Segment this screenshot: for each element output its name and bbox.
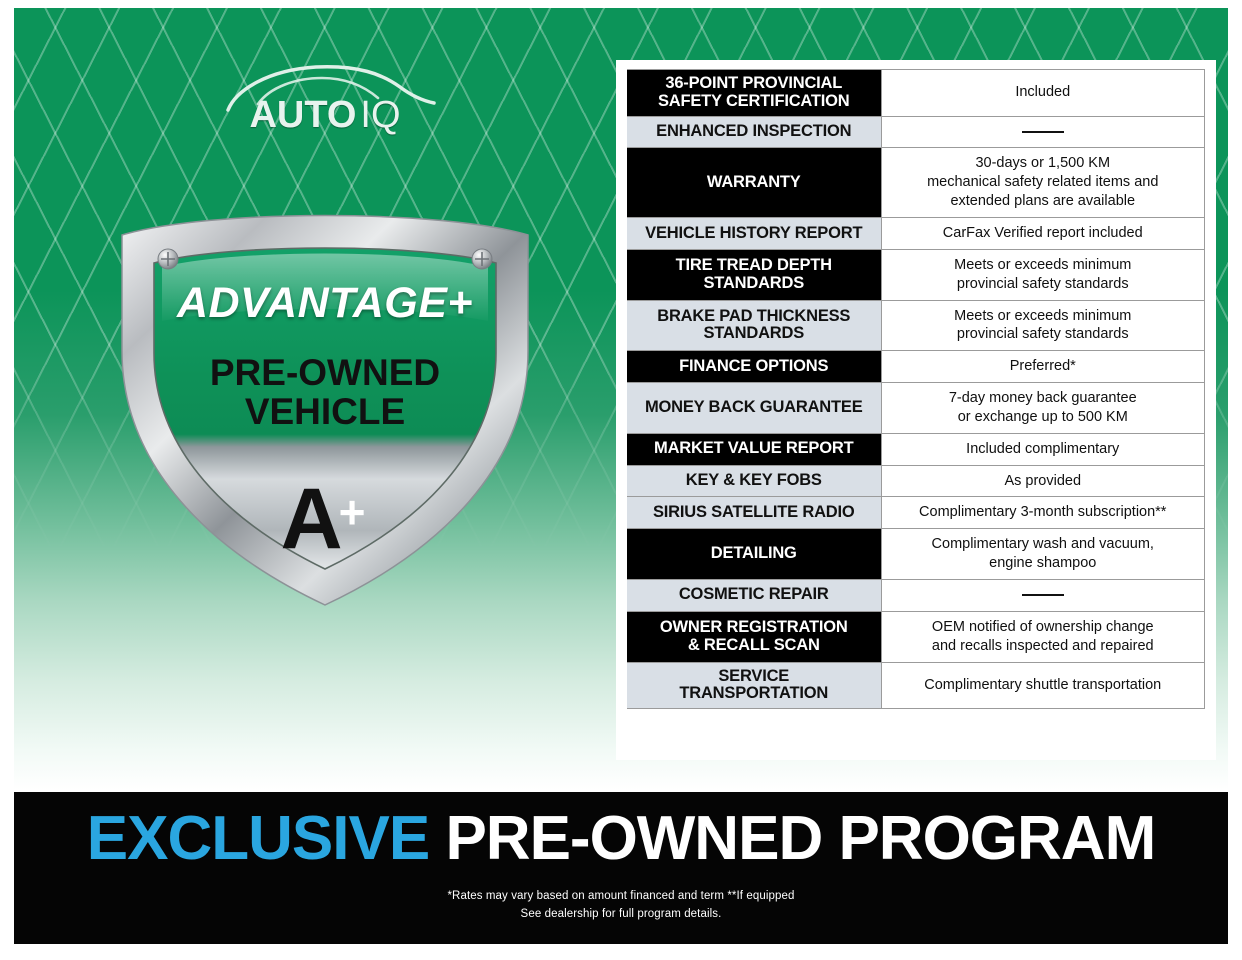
feature-label: WARRANTY xyxy=(627,148,881,218)
feature-value: Meets or exceeds minimumprovincial safet… xyxy=(881,300,1205,351)
feature-value: Complimentary 3-month subscription** xyxy=(881,497,1205,529)
table-row: OWNER REGISTRATION& RECALL SCANOEM notif… xyxy=(627,611,1205,662)
feature-label: OWNER REGISTRATION& RECALL SCAN xyxy=(627,611,881,662)
banner-title-highlight: EXCLUSIVE xyxy=(87,804,429,873)
table-row: KEY & KEY FOBSAs provided xyxy=(627,465,1205,497)
feature-label: KEY & KEY FOBS xyxy=(627,465,881,497)
feature-value: 30-days or 1,500 KMmechanical safety rel… xyxy=(881,148,1205,218)
feature-label: SERVICETRANSPORTATION xyxy=(627,662,881,709)
feature-label: ENHANCED INSPECTION xyxy=(627,116,881,148)
shield-graphic xyxy=(110,201,540,611)
dash-mark xyxy=(1022,131,1064,133)
green-background-panel: AUTOIQ xyxy=(14,8,1228,790)
feature-value: 7-day money back guaranteeor exchange up… xyxy=(881,383,1205,434)
feature-label: SIRIUS SATELLITE RADIO xyxy=(627,497,881,529)
feature-value xyxy=(881,116,1205,148)
feature-value xyxy=(881,579,1205,611)
feature-value: Included complimentary xyxy=(881,433,1205,465)
feature-label: DETAILING xyxy=(627,529,881,580)
banner-title: EXCLUSIVE PRE-OWNED PROGRAM xyxy=(14,808,1228,870)
feature-label: TIRE TREAD DEPTHSTANDARDS xyxy=(627,249,881,300)
feature-table: 36-POINT PROVINCIALSAFETY CERTIFICATIONI… xyxy=(627,69,1205,709)
table-row: VEHICLE HISTORY REPORTCarFax Verified re… xyxy=(627,218,1205,250)
table-row: WARRANTY30-days or 1,500 KMmechanical sa… xyxy=(627,148,1205,218)
feature-value: As provided xyxy=(881,465,1205,497)
autoiq-light-text: IQ xyxy=(360,94,400,136)
feature-value: Included xyxy=(881,70,1205,117)
feature-label: COSMETIC REPAIR xyxy=(627,579,881,611)
feature-label: BRAKE PAD THICKNESSSTANDARDS xyxy=(627,300,881,351)
feature-table-card: 36-POINT PROVINCIALSAFETY CERTIFICATIONI… xyxy=(616,60,1216,760)
fineprint-line-2: See dealership for full program details. xyxy=(521,908,722,920)
table-row: SERVICETRANSPORTATIONComplimentary shutt… xyxy=(627,662,1205,709)
feature-value: OEM notified of ownership changeand reca… xyxy=(881,611,1205,662)
table-row: MONEY BACK GUARANTEE7-day money back gua… xyxy=(627,383,1205,434)
table-row: 36-POINT PROVINCIALSAFETY CERTIFICATIONI… xyxy=(627,70,1205,117)
advantage-plus-poster: AUTOIQ xyxy=(0,0,1242,960)
table-row: COSMETIC REPAIR xyxy=(627,579,1205,611)
feature-label: VEHICLE HISTORY REPORT xyxy=(627,218,881,250)
bottom-banner: EXCLUSIVE PRE-OWNED PROGRAM *Rates may v… xyxy=(14,792,1228,944)
advantage-shield-badge: ADVANTAGE+ PRE-OWNED VEHICLE A+ xyxy=(110,201,540,611)
dash-mark xyxy=(1022,594,1064,596)
feature-value: CarFax Verified report included xyxy=(881,218,1205,250)
autoiq-wordmark: AUTOIQ xyxy=(210,96,440,134)
table-row: DETAILINGComplimentary wash and vacuum,e… xyxy=(627,529,1205,580)
feature-label: FINANCE OPTIONS xyxy=(627,351,881,383)
fineprint: *Rates may vary based on amount financed… xyxy=(14,888,1228,924)
table-row: TIRE TREAD DEPTHSTANDARDSMeets or exceed… xyxy=(627,249,1205,300)
fineprint-line-1: *Rates may vary based on amount financed… xyxy=(447,890,794,902)
table-row: ENHANCED INSPECTION xyxy=(627,116,1205,148)
feature-value: Complimentary shuttle transportation xyxy=(881,662,1205,709)
feature-label: MARKET VALUE REPORT xyxy=(627,433,881,465)
feature-label: 36-POINT PROVINCIALSAFETY CERTIFICATION xyxy=(627,70,881,117)
feature-label: MONEY BACK GUARANTEE xyxy=(627,383,881,434)
autoiq-bold-text: AUTO xyxy=(249,94,356,136)
feature-value: Meets or exceeds minimumprovincial safet… xyxy=(881,249,1205,300)
feature-value: Preferred* xyxy=(881,351,1205,383)
banner-title-rest: PRE-OWNED PROGRAM xyxy=(445,804,1155,873)
table-row: BRAKE PAD THICKNESSSTANDARDSMeets or exc… xyxy=(627,300,1205,351)
table-row: SIRIUS SATELLITE RADIOComplimentary 3-mo… xyxy=(627,497,1205,529)
feature-table-body: 36-POINT PROVINCIALSAFETY CERTIFICATIONI… xyxy=(627,70,1205,709)
feature-value: Complimentary wash and vacuum,engine sha… xyxy=(881,529,1205,580)
autoiq-logo: AUTOIQ xyxy=(210,60,440,150)
table-row: MARKET VALUE REPORTIncluded complimentar… xyxy=(627,433,1205,465)
table-row: FINANCE OPTIONSPreferred* xyxy=(627,351,1205,383)
